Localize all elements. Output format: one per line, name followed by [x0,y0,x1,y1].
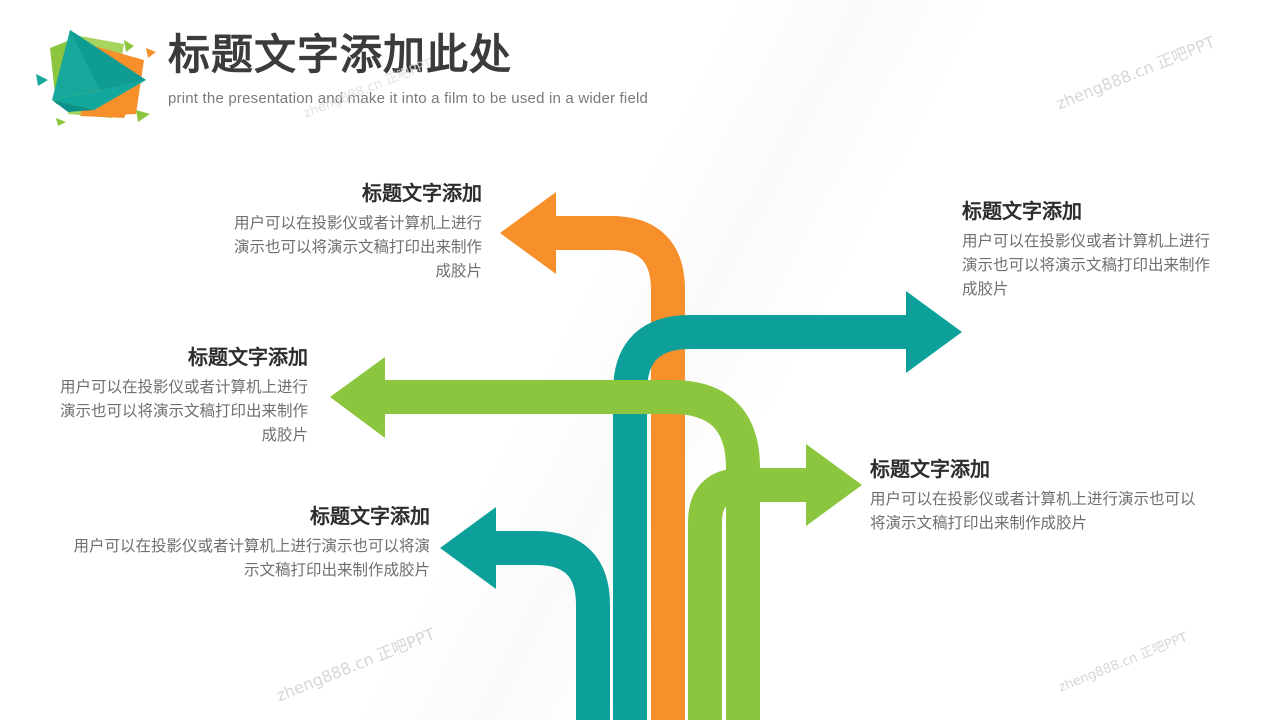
text-block-2[interactable]: 标题文字添加 用户可以在投影仪或者计算机上进行演示也可以将演示文稿打印出来制作成… [962,200,1222,302]
text-block-4[interactable]: 标题文字添加 用户可以在投影仪或者计算机上进行演示也可以将演示文稿打印出来制作成… [870,458,1200,536]
text-block-title: 标题文字添加 [962,200,1222,225]
text-block-body: 用户可以在投影仪或者计算机上进行演示也可以将演示文稿打印出来制作成胶片 [50,376,308,448]
text-block-body: 用户可以在投影仪或者计算机上进行演示也可以将演示文稿打印出来制作成胶片 [230,212,482,284]
text-block-1[interactable]: 标题文字添加 用户可以在投影仪或者计算机上进行演示也可以将演示文稿打印出来制作成… [230,182,482,284]
text-block-body: 用户可以在投影仪或者计算机上进行演示也可以将演示文稿打印出来制作成胶片 [70,535,430,583]
text-block-title: 标题文字添加 [230,182,482,207]
text-block-body: 用户可以在投影仪或者计算机上进行演示也可以将演示文稿打印出来制作成胶片 [870,488,1200,536]
text-block-body: 用户可以在投影仪或者计算机上进行演示也可以将演示文稿打印出来制作成胶片 [962,230,1222,302]
page-title: 标题文字添加此处 [168,32,648,78]
text-block-title: 标题文字添加 [70,505,430,530]
text-block-title: 标题文字添加 [50,346,308,371]
page-subtitle: print the presentation and make it into … [168,90,648,107]
slide-canvas: 标题文字添加此处 print the presentation and make… [0,0,1280,720]
text-block-3[interactable]: 标题文字添加 用户可以在投影仪或者计算机上进行演示也可以将演示文稿打印出来制作成… [50,346,308,448]
text-block-5[interactable]: 标题文字添加 用户可以在投影仪或者计算机上进行演示也可以将演示文稿打印出来制作成… [70,505,430,583]
slide-header: 标题文字添加此处 print the presentation and make… [0,0,1280,140]
title-block: 标题文字添加此处 print the presentation and make… [168,32,648,107]
teal-arrow-up-left-2 [440,507,593,720]
origami-triangle-logo [28,18,164,130]
text-block-title: 标题文字添加 [870,458,1200,483]
